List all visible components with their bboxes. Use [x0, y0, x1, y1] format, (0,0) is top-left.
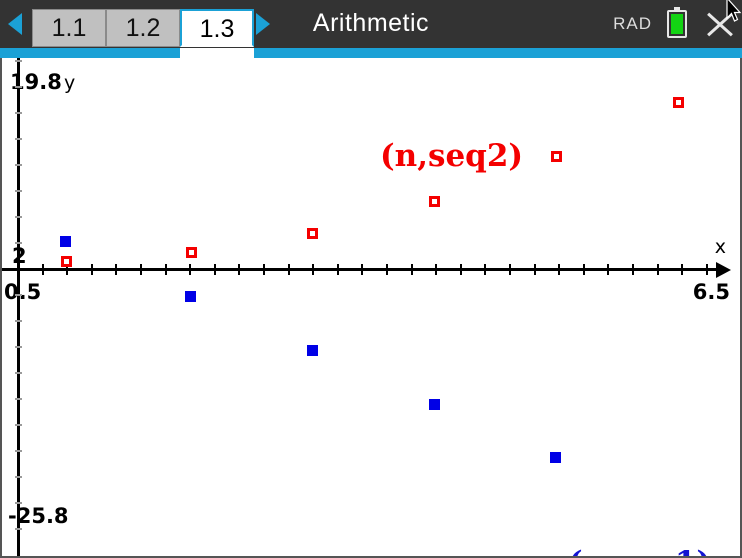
x-axis-tick: [386, 264, 388, 275]
x-axis-tick: [42, 264, 44, 275]
data-point-seq1-3[interactable]: [307, 345, 318, 356]
data-point-seq2-2[interactable]: [186, 247, 197, 258]
series-label-seq1[interactable]: (n,seq1): [568, 545, 711, 558]
y-axis-tick: [15, 190, 22, 192]
data-point-seq2-4[interactable]: [429, 196, 440, 207]
y-axis-tick: [15, 60, 22, 62]
y-axis-tick: [15, 86, 22, 88]
y-axis-tick: [15, 450, 22, 452]
active-tab-strip: [0, 48, 742, 58]
x-axis-tick: [288, 264, 290, 275]
data-point-seq2-5[interactable]: [551, 151, 562, 162]
y-axis-tick: [15, 346, 22, 348]
x-axis-tick: [361, 264, 363, 275]
x-axis-tick: [312, 264, 314, 275]
y-axis-tick: [15, 398, 22, 400]
header-bar: 1.1 1.2 1.3 Arithmetic RAD: [0, 0, 742, 48]
x-axis-arrow-icon: [716, 262, 731, 278]
battery-icon: [667, 10, 687, 38]
series-label-seq2[interactable]: (n,seq2): [380, 138, 523, 174]
data-point-seq2-6[interactable]: [673, 97, 684, 108]
y-axis-tick: [15, 112, 22, 114]
x-axis-tick: [91, 264, 93, 275]
x-axis-tick: [435, 264, 437, 275]
x-axis-tick: [657, 264, 659, 275]
x-axis-tick: [706, 264, 708, 275]
x-axis-tick: [17, 264, 19, 275]
angle-mode-indicator: RAD: [613, 14, 652, 34]
y-axis-tick: [15, 528, 22, 530]
y-axis-tick: [15, 138, 22, 140]
y-axis-line: [17, 58, 20, 556]
y-axis-tick: [15, 424, 22, 426]
x-axis-tick: [534, 264, 536, 275]
x-axis-tick: [189, 264, 191, 275]
x-axis-tick: [681, 264, 683, 275]
x-axis-tick: [460, 264, 462, 275]
tab-page-1-3[interactable]: 1.3: [180, 9, 254, 47]
y-axis-tick: [15, 320, 22, 322]
x-axis-tick: [214, 264, 216, 275]
x-axis-tick: [583, 264, 585, 275]
plot-area[interactable]: 19.8 y 2 0.5 -25.8 6.5 x (n,seq2) (n,seq…: [2, 58, 740, 556]
x-axis-tick: [484, 264, 486, 275]
data-point-seq1-4[interactable]: [429, 399, 440, 410]
y-axis-tick: [15, 242, 22, 244]
x-axis-tick: [263, 264, 265, 275]
mouse-pointer-icon: [726, 0, 742, 24]
x-axis-tick: [509, 264, 511, 275]
graph-canvas[interactable]: 19.8 y 2 0.5 -25.8 6.5 x (n,seq2) (n,seq…: [0, 58, 742, 558]
calculator-screen: 1.1 1.2 1.3 Arithmetic RAD 19.8 y 2 0.5 …: [0, 0, 742, 558]
x-axis-min-label: 0.5: [4, 280, 41, 304]
data-point-seq2-1[interactable]: [61, 256, 72, 267]
x-axis-tick: [558, 264, 560, 275]
y-axis-tick: [15, 294, 22, 296]
y-axis-tick: [15, 164, 22, 166]
active-tab-gap: [180, 48, 254, 58]
y-axis-variable-label: y: [64, 72, 75, 94]
y-axis-tick: [15, 216, 22, 218]
x-axis-tick: [337, 264, 339, 275]
data-point-seq1-2[interactable]: [185, 291, 196, 302]
x-axis-variable-label: x: [715, 236, 726, 258]
data-point-seq1-5[interactable]: [550, 452, 561, 463]
x-axis-line: [2, 268, 718, 271]
battery-fill: [671, 14, 683, 34]
x-axis-tick: [165, 264, 167, 275]
data-point-seq2-3[interactable]: [307, 228, 318, 239]
y-axis-tick: [15, 502, 22, 504]
data-point-seq1-1[interactable]: [60, 236, 71, 247]
x-axis-tick: [411, 264, 413, 275]
x-axis-max-label: 6.5: [693, 280, 730, 304]
x-axis-tick: [140, 264, 142, 275]
x-axis-tick: [238, 264, 240, 275]
x-axis-tick: [115, 264, 117, 275]
y-axis-tick: [15, 476, 22, 478]
y-axis-tick: [15, 372, 22, 374]
x-axis-tick: [632, 264, 634, 275]
x-axis-tick: [607, 264, 609, 275]
